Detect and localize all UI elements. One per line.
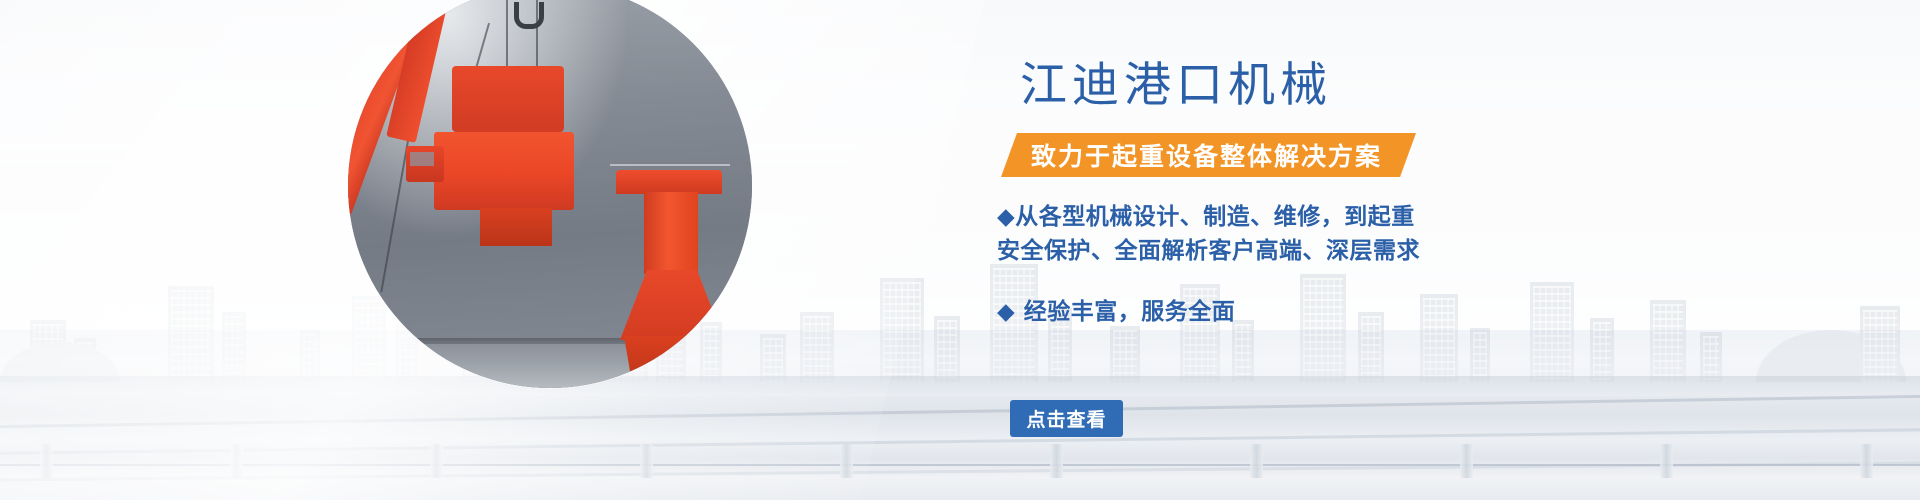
crane-machinery-head — [452, 66, 564, 132]
feature-bullet-1: ◆从各型机械设计、制造、维修，到起重 安全保护、全面解析客户高端、深层需求 — [997, 200, 1697, 268]
crane-photo-circle — [348, 0, 752, 388]
promo-banner: 江迪港口机械 致力于起重设备整体解决方案 ◆从各型机械设计、制造、维修，到起重 … — [0, 0, 1920, 500]
pedestal-crane-column — [644, 192, 698, 274]
feature-bullet-2: ◆ 经验丰富，服务全面 — [997, 295, 1697, 329]
crane-operator-cab — [406, 146, 444, 182]
crane-hook — [514, 2, 544, 29]
tagline-text: 致力于起重设备整体解决方案 — [1031, 137, 1382, 173]
banner-headline: 江迪港口机械 — [1020, 60, 1332, 112]
feature-bullet-1-line-2: 安全保护、全面解析客户高端、深层需求 — [997, 238, 1420, 264]
crane-base — [480, 208, 552, 246]
crane-house — [434, 132, 574, 210]
tagline-ribbon: 致力于起重设备整体解决方案 — [1001, 133, 1416, 177]
banner-content: 江迪港口机械 致力于起重设备整体解决方案 ◆从各型机械设计、制造、维修，到起重 … — [820, 0, 1720, 500]
diamond-bullet-icon-2: ◆ — [997, 299, 1015, 325]
pedestal-crane-top — [616, 170, 722, 194]
feature-bullet-list: ◆从各型机械设计、制造、维修，到起重 安全保护、全面解析客户高端、深层需求 ◆ … — [997, 200, 1697, 329]
feature-bullet-1-line-1: 从各型机械设计、制造、维修，到起重 — [1015, 204, 1415, 230]
view-details-button[interactable]: 点击查看 — [1010, 400, 1123, 437]
feature-bullet-2-line-1: 经验丰富，服务全面 — [1015, 299, 1235, 325]
diamond-bullet-icon: ◆ — [997, 204, 1015, 230]
